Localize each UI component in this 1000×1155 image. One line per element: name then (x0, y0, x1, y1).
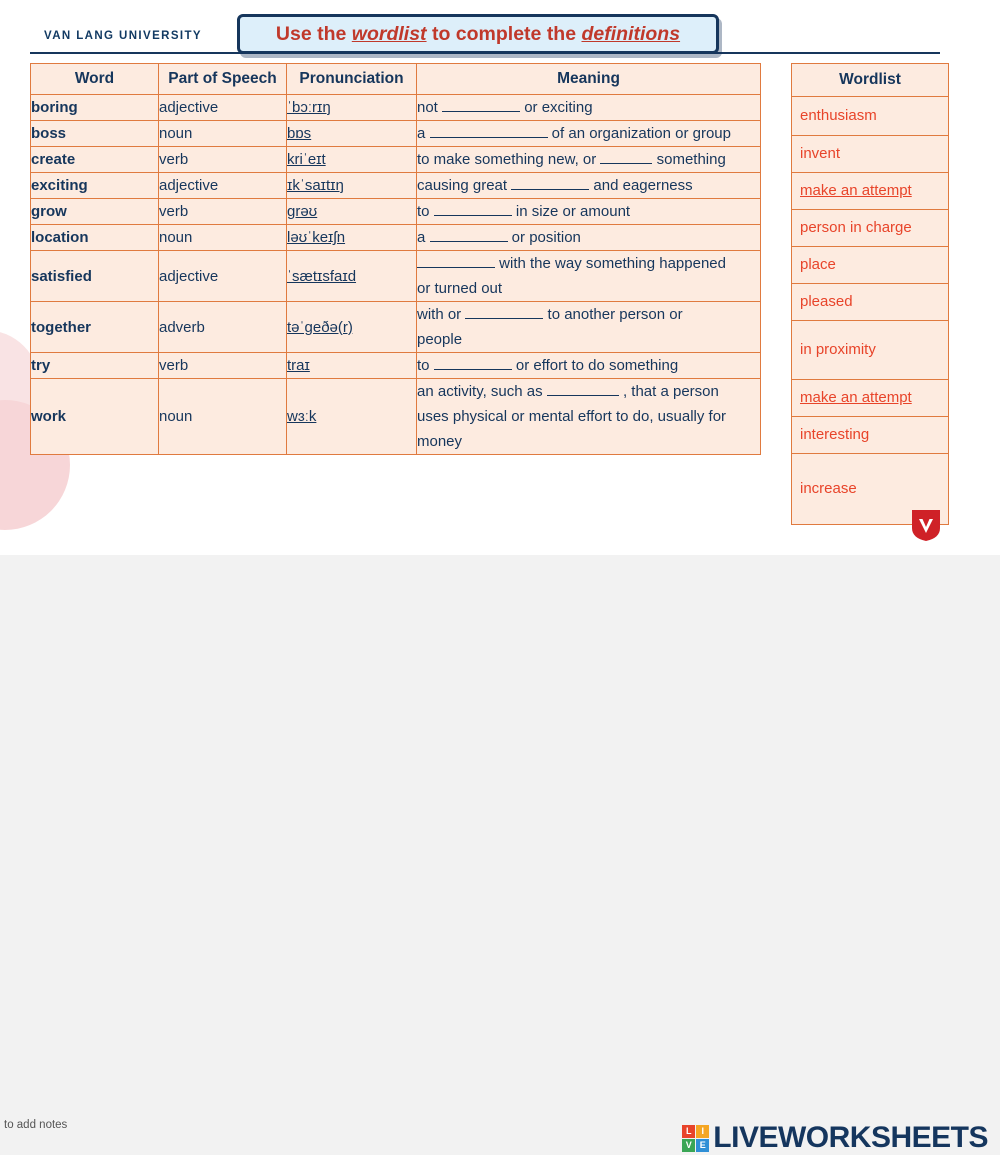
wordlist-row: make an attempt (792, 173, 949, 210)
column-header-meaning: Meaning (417, 64, 761, 95)
meaning-line2: people (417, 331, 462, 348)
pos-cell: verb (159, 199, 287, 225)
answer-blank[interactable] (600, 149, 652, 164)
logo-letter-e: E (696, 1139, 709, 1152)
meaning-pre: causing great (417, 177, 511, 194)
wordlist-row: pleased (792, 284, 949, 321)
wordlist-row: enthusiasm (792, 97, 949, 136)
word-cell: boss (31, 121, 159, 147)
table-row: create verb kriˈeɪt to make something ne… (31, 147, 761, 173)
answer-blank[interactable] (511, 175, 589, 190)
wordlist-item[interactable]: place (792, 247, 949, 284)
meaning-pre: to (417, 357, 434, 374)
pos-cell: adverb (159, 302, 287, 353)
meaning-pre: not (417, 99, 442, 116)
meaning-cell: with the way something happenedor turned… (417, 251, 761, 302)
pos-cell: adjective (159, 95, 287, 121)
meaning-line2: uses physical or mental effort to do, us… (417, 408, 726, 425)
meaning-post: something (652, 151, 725, 168)
notes-bar: to add notes L I V E LIVEWORKSHEETS (0, 555, 1000, 613)
table-row: satisfied adjective ˈsætɪsfaɪd with the … (31, 251, 761, 302)
title-emphasis-wordlist: wordlist (352, 23, 427, 45)
word-cell: work (31, 379, 159, 455)
column-header-pronunciation: Pronunciation (287, 64, 417, 95)
meaning-cell: to in size or amount (417, 199, 761, 225)
pronunciation-cell: bɒs (287, 121, 417, 147)
logo-letter-l: L (682, 1125, 695, 1138)
meaning-cell: to make something new, or something (417, 147, 761, 173)
pronunciation-cell: ɪkˈsaɪtɪŋ (287, 173, 417, 199)
meaning-cell: to or effort to do something (417, 353, 761, 379)
meaning-post: to another person or (543, 306, 682, 323)
word-cell: exciting (31, 173, 159, 199)
word-cell: try (31, 353, 159, 379)
pos-cell: adjective (159, 173, 287, 199)
wordlist-row: make an attempt (792, 380, 949, 417)
logo-letter-v: V (682, 1139, 695, 1152)
meaning-pre: to make something new, or (417, 151, 600, 168)
word-cell: together (31, 302, 159, 353)
meaning-line2: or turned out (417, 280, 502, 297)
wordlist-row: place (792, 247, 949, 284)
meaning-pre: an activity, such as (417, 383, 547, 400)
table-row: try verb traɪ to or effort to do somethi… (31, 353, 761, 379)
wordlist-item[interactable]: invent (792, 136, 949, 173)
meaning-post: in size or amount (512, 203, 630, 220)
add-notes-label[interactable]: to add notes (4, 1119, 67, 1131)
page-title: Use the wordlist to complete the definit… (276, 23, 680, 46)
logo-letter-i: I (696, 1125, 709, 1138)
wordlist-row: in proximity (792, 321, 949, 380)
meaning-cell: a of an organization or group (417, 121, 761, 147)
wordlist-item[interactable]: interesting (792, 417, 949, 454)
title-middle: to complete the (427, 23, 582, 45)
meaning-cell: an activity, such as , that a personuses… (417, 379, 761, 455)
title-emphasis-definitions: definitions (581, 23, 680, 45)
title-banner: Use the wordlist to complete the definit… (237, 14, 719, 54)
pos-cell: noun (159, 379, 287, 455)
pronunciation-cell: wɜːk (287, 379, 417, 455)
answer-blank[interactable] (430, 227, 508, 242)
liveworksheets-wordmark: LIVEWORKSHEETS (713, 1121, 988, 1155)
meaning-pre: a (417, 229, 430, 246)
wordlist-item[interactable]: make an attempt (792, 173, 949, 210)
vocabulary-table: Word Part of Speech Pronunciation Meanin… (30, 63, 761, 455)
table-row: work noun wɜːk an activity, such as , th… (31, 379, 761, 455)
pronunciation-cell: kriˈeɪt (287, 147, 417, 173)
meaning-post: , that a person (619, 383, 719, 400)
column-header-word: Word (31, 64, 159, 95)
title-prefix: Use the (276, 23, 352, 45)
pos-cell: noun (159, 225, 287, 251)
wordlist-item[interactable]: pleased (792, 284, 949, 321)
table-row: boring adjective ˈbɔːrɪŋ not or exciting (31, 95, 761, 121)
answer-blank[interactable] (434, 201, 512, 216)
university-brand: VAN LANG UNIVERSITY (44, 30, 202, 42)
answer-blank[interactable] (442, 97, 520, 112)
meaning-pre: with or (417, 306, 465, 323)
meaning-cell: a or position (417, 225, 761, 251)
pronunciation-cell: ˈbɔːrɪŋ (287, 95, 417, 121)
table-header-row: Word Part of Speech Pronunciation Meanin… (31, 64, 761, 95)
table-row: grow verb ɡrəʊ to in size or amount (31, 199, 761, 225)
meaning-cell: causing great and eagerness (417, 173, 761, 199)
meaning-post: with the way something happened (495, 255, 726, 272)
pos-cell: noun (159, 121, 287, 147)
pos-cell: verb (159, 147, 287, 173)
pronunciation-cell: ˈsætɪsfaɪd (287, 251, 417, 302)
meaning-post: or position (508, 229, 581, 246)
wordlist-item[interactable]: in proximity (792, 321, 949, 380)
wordlist-item[interactable]: person in charge (792, 210, 949, 247)
wordlist-header-row: Wordlist (792, 64, 949, 97)
column-header-part-of-speech: Part of Speech (159, 64, 287, 95)
pronunciation-cell: ləʊˈkeɪʃn (287, 225, 417, 251)
answer-blank[interactable] (430, 123, 548, 138)
meaning-post: or exciting (520, 99, 593, 116)
meaning-pre: a (417, 125, 430, 142)
pronunciation-cell: traɪ (287, 353, 417, 379)
wordlist-row: interesting (792, 417, 949, 454)
pronunciation-cell: təˈɡeðə(r) (287, 302, 417, 353)
meaning-cell: with or to another person orpeople (417, 302, 761, 353)
wordlist-row: person in charge (792, 210, 949, 247)
van-lang-shield-icon (910, 508, 942, 542)
meaning-line3: money (417, 433, 462, 450)
meaning-cell: not or exciting (417, 95, 761, 121)
word-cell: satisfied (31, 251, 159, 302)
answer-blank[interactable] (465, 304, 543, 319)
answer-blank[interactable] (547, 381, 619, 396)
table-row: exciting adjective ɪkˈsaɪtɪŋ causing gre… (31, 173, 761, 199)
pos-cell: adjective (159, 251, 287, 302)
worksheet-page: VAN LANG UNIVERSITY Use the wordlist to … (0, 0, 1000, 555)
liveworksheets-logo-squares: L I V E (682, 1125, 709, 1152)
answer-blank[interactable] (434, 355, 512, 370)
meaning-post: or effort to do something (512, 357, 679, 374)
answer-blank[interactable] (417, 253, 495, 268)
liveworksheets-logo: L I V E LIVEWORKSHEETS (682, 1121, 988, 1155)
meaning-post: of an organization or group (548, 125, 731, 142)
word-cell: location (31, 225, 159, 251)
meaning-pre: to (417, 203, 434, 220)
wordlist-item[interactable]: enthusiasm (792, 97, 949, 136)
pos-cell: verb (159, 353, 287, 379)
meaning-post: and eagerness (589, 177, 692, 194)
table-row: location noun ləʊˈkeɪʃn a or position (31, 225, 761, 251)
table-row: boss noun bɒs a of an organization or gr… (31, 121, 761, 147)
table-row: together adverb təˈɡeðə(r) with or to an… (31, 302, 761, 353)
wordlist-header: Wordlist (792, 64, 949, 97)
word-cell: grow (31, 199, 159, 225)
word-cell: boring (31, 95, 159, 121)
wordlist-row: invent (792, 136, 949, 173)
wordlist-table: Wordlist enthusiasm invent make an attem… (791, 63, 949, 525)
word-cell: create (31, 147, 159, 173)
pronunciation-cell: ɡrəʊ (287, 199, 417, 225)
wordlist-item[interactable]: make an attempt (792, 380, 949, 417)
